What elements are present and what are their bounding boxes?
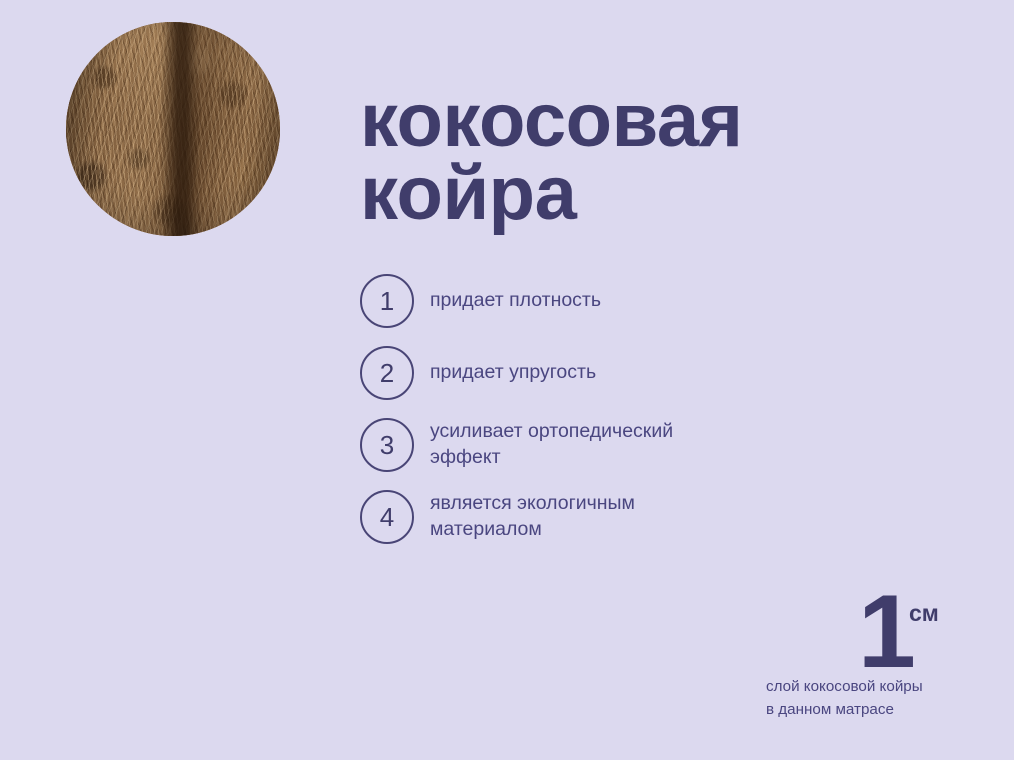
list-item-label: усиливает ортопедический эффект (430, 419, 673, 470)
list-item-number-badge: 1 (360, 274, 414, 328)
list-item-label: придает плотность (430, 288, 601, 314)
list-item: 3 усиливает ортопедический эффект (360, 418, 880, 472)
infographic-slide: кокосовая койра 1 придает плотность 2 пр… (0, 0, 1014, 760)
list-item-number: 2 (380, 358, 394, 389)
list-item-label: является экологичным материалом (430, 491, 635, 542)
thickness-unit: см (909, 602, 939, 625)
list-item: 4 является экологичным материалом (360, 490, 880, 544)
list-item: 2 придает упругость (360, 346, 880, 400)
benefits-list: 1 придает плотность 2 придает упругость … (360, 274, 880, 544)
thickness-stat: 1 см слой кокосовой койры в данном матра… (755, 592, 955, 722)
list-item-number: 4 (380, 502, 394, 533)
list-item-number: 1 (380, 286, 394, 317)
photo-vignette (66, 22, 280, 236)
list-item-number: 3 (380, 430, 394, 461)
thickness-value-group: 1 см (755, 592, 955, 670)
list-item-number-badge: 3 (360, 418, 414, 472)
list-item-label: придает упругость (430, 360, 596, 386)
list-item: 1 придает плотность (360, 274, 880, 328)
list-item-number-badge: 2 (360, 346, 414, 400)
thickness-caption: слой кокосовой койры в данном матрасе (755, 676, 955, 722)
list-item-number-badge: 4 (360, 490, 414, 544)
coconut-coir-photo (66, 22, 280, 236)
page-title: кокосовая койра (360, 85, 920, 231)
thickness-value: 1 (858, 580, 914, 684)
